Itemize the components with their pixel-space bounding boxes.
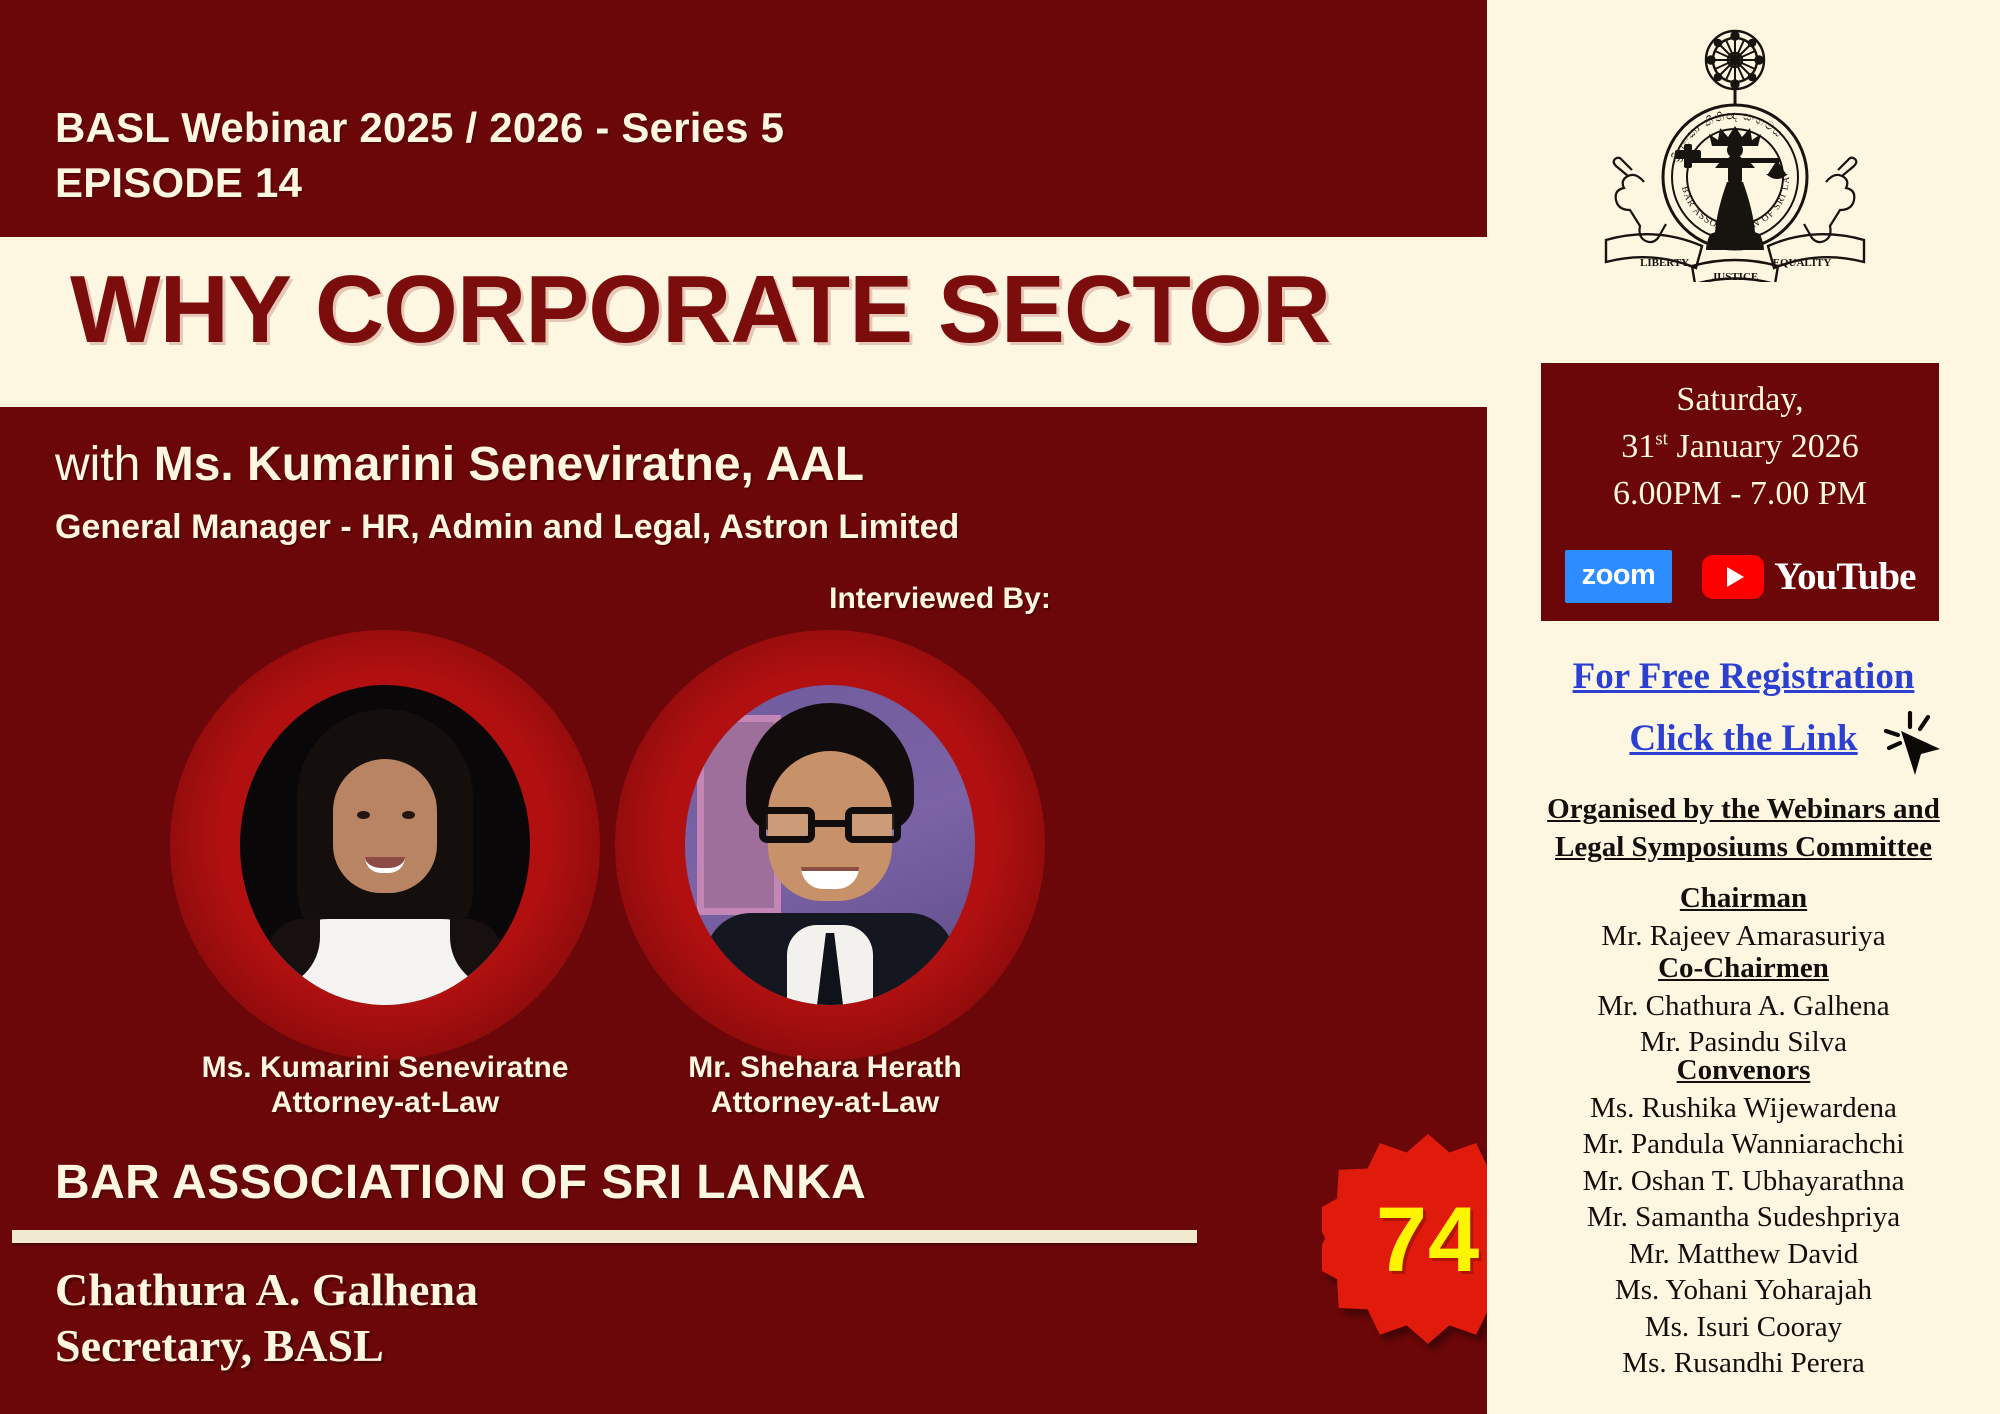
organised-line-1: Organised by the Webinars and [1487, 790, 2000, 828]
speaker-photo-2 [615, 630, 1045, 1060]
group-title: Convenors [1487, 1052, 2000, 1090]
group-title: Chairman [1487, 880, 2000, 918]
secretary-title: Secretary, BASL [55, 1318, 955, 1374]
date-suffix: st [1655, 429, 1668, 450]
organised-by: Organised by the Webinars and Legal Symp… [1487, 790, 2000, 867]
organised-line-2: Legal Symposiums Committee [1487, 828, 2000, 866]
lens-right [845, 807, 901, 843]
registration-link-line1[interactable]: For Free Registration [1487, 655, 2000, 698]
youtube-label: YouTube [1774, 554, 1915, 599]
speaker-headline: with Ms. Kumarini Seneviratne, AAL [55, 440, 1455, 490]
collar-shape [270, 919, 500, 1005]
with-label: with [55, 438, 154, 491]
member-name: Mr. Pandula Wanniarachchi [1487, 1126, 2000, 1163]
webinar-poster: BASL Webinar 2025 / 2026 - Series 5 EPIS… [0, 0, 2000, 1414]
svg-text:EQUALITY: EQUALITY [1773, 257, 1832, 269]
secretary-block: Chathura A. Galhena Secretary, BASL [55, 1262, 955, 1374]
play-icon [1702, 555, 1764, 599]
person-name: Mr. Shehara Herath [565, 1050, 1085, 1085]
speaker-role: General Manager - HR, Admin and Legal, A… [55, 508, 1455, 547]
date-number: 31 [1621, 428, 1655, 465]
person-designation: Attorney-at-Law [565, 1085, 1085, 1120]
glasses-icon [759, 807, 901, 843]
svg-text:JUSTICE: JUSTICE [1712, 271, 1758, 282]
secretary-name: Chathura A. Galhena [55, 1262, 955, 1318]
member-name: Mr. Matthew David [1487, 1236, 2000, 1273]
bridge [815, 820, 845, 827]
platform-logos: zoom YouTube [1541, 550, 1939, 603]
member-name: Ms. Rushika Wijewardena [1487, 1090, 2000, 1127]
committee-group-chairman: Chairman Mr. Rajeev Amarasuriya [1487, 880, 2000, 954]
member-name: Ms. Rusandhi Perera [1487, 1345, 2000, 1382]
divider [12, 1230, 1197, 1243]
zoom-logo[interactable]: zoom [1565, 550, 1673, 603]
click-cursor-icon [1870, 705, 1944, 779]
member-name: Mr. Oshan T. Ubhayarathna [1487, 1163, 2000, 1200]
member-name: Ms. Yohani Yoharajah [1487, 1272, 2000, 1309]
event-datetime-box: Saturday, 31st January 2026 6.00PM - 7.0… [1541, 363, 1939, 621]
page-title: WHY CORPORATE SECTOR [70, 262, 1470, 358]
committee-group-convenors: Convenors Ms. Rushika Wijewardena Mr. Pa… [1487, 1052, 2000, 1382]
member-name: Mr. Samantha Sudeshpriya [1487, 1199, 2000, 1236]
episode-line: EPISODE 14 [55, 155, 1355, 210]
speaker-caption-2: Mr. Shehara Herath Attorney-at-Law [565, 1050, 1085, 1121]
month-year: January 2026 [1676, 428, 1858, 465]
series-line: BASL Webinar 2025 / 2026 - Series 5 [55, 100, 1355, 155]
event-date: 31st January 2026 [1541, 424, 1939, 471]
group-title: Co-Chairmen [1487, 950, 2000, 988]
event-time: 6.00PM - 7.00 PM [1541, 471, 1939, 518]
eye-right [402, 811, 415, 819]
member-name: Mr. Chathura A. Galhena [1487, 988, 2000, 1025]
speaker-photo-1 [170, 630, 600, 1060]
lens-left [759, 807, 815, 843]
interviewed-by-label: Interviewed By: [700, 582, 1180, 616]
header-text: BASL Webinar 2025 / 2026 - Series 5 EPIS… [55, 100, 1355, 211]
basl-crest-logo: ශ්‍රී ලංකා නීතිඥ සංගමය BAR ASSOCIATION O… [1570, 22, 1900, 282]
avatar-shehara-herath [685, 685, 975, 1005]
committee-group-co-chairmen: Co-Chairmen Mr. Chathura A. Galhena Mr. … [1487, 950, 2000, 1061]
member-name: Mr. Rajeev Amarasuriya [1487, 918, 2000, 955]
youtube-logo[interactable]: YouTube [1702, 554, 1915, 599]
speaker-name: Ms. Kumarini Seneviratne, AAL [154, 438, 864, 491]
svg-text:LIBERTY: LIBERTY [1640, 257, 1689, 269]
eye-left [357, 811, 370, 819]
avatar-kumarini-seneviratne [240, 685, 530, 1005]
organisation-name: BAR ASSOCIATION OF SRI LANKA [55, 1155, 1355, 1210]
member-name: Ms. Isuri Cooray [1487, 1309, 2000, 1346]
event-day: Saturday, [1541, 377, 1939, 424]
